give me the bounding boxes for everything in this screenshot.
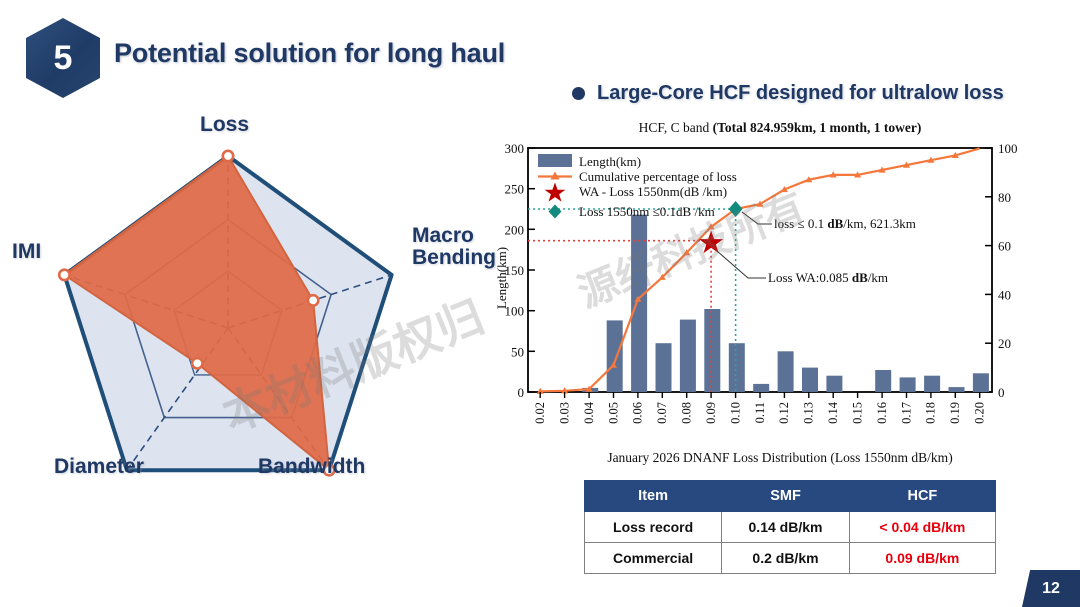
svg-text:40: 40 [998, 287, 1011, 302]
radar-label-imi: IMI [12, 240, 41, 264]
radar-chart: Loss IMI Macro Bending Diameter Bandwidt… [0, 100, 500, 500]
wa-annotation-text: Loss WA:0.085 dB/km [768, 270, 888, 285]
svg-text:0.19: 0.19 [948, 402, 962, 424]
radar-svg [0, 100, 500, 500]
comparison-table: Item SMF HCF Loss record 0.14 dB/km < 0.… [584, 480, 996, 574]
svg-text:60: 60 [998, 239, 1011, 254]
legend-label-0: Length(km) [579, 154, 641, 169]
table-header-smf: SMF [722, 481, 850, 512]
x-axis-title: January 2026 DNANF Loss Distribution (Lo… [480, 450, 1080, 466]
svg-text:0.05: 0.05 [606, 402, 620, 424]
table-row: Loss record 0.14 dB/km < 0.04 dB/km [585, 512, 996, 543]
table-header-row: Item SMF HCF [585, 481, 996, 512]
svg-text:0.04: 0.04 [582, 401, 596, 424]
svg-text:0.06: 0.06 [631, 402, 645, 424]
legend-label-1: Cumulative percentage of loss [579, 169, 737, 184]
table-row: Commercial 0.2 dB/km 0.09 dB/km [585, 543, 996, 574]
cell-hcf-loss-record: < 0.04 dB/km [849, 512, 995, 543]
svg-text:0.20: 0.20 [973, 402, 987, 424]
svg-text:0.03: 0.03 [557, 402, 571, 424]
svg-text:250: 250 [505, 182, 525, 197]
radar-label-loss: Loss [200, 113, 249, 137]
svg-text:0.15: 0.15 [850, 402, 864, 424]
svg-text:0.02: 0.02 [533, 402, 547, 424]
slide-root: 5 Potential solution for long haul Large… [0, 0, 1080, 607]
page-number-badge: 12 [1022, 570, 1080, 607]
svg-text:0.18: 0.18 [924, 402, 938, 424]
cell-item-commercial: Commercial [585, 543, 722, 574]
cell-smf-commercial: 0.2 dB/km [722, 543, 850, 574]
threshold-annotation-text: loss ≤ 0.1 dB/km, 621.3km [774, 216, 916, 231]
table-header-item: Item [585, 481, 722, 512]
svg-text:0.14: 0.14 [826, 401, 840, 424]
section-heading: Large-Core HCF designed for ultralow los… [572, 82, 1004, 105]
svg-text:0.12: 0.12 [777, 402, 791, 424]
svg-text:80: 80 [998, 190, 1011, 205]
page-title: Potential solution for long haul [114, 38, 505, 69]
svg-text:0.13: 0.13 [802, 402, 816, 424]
bullet-dot-icon [572, 87, 585, 100]
svg-text:0.08: 0.08 [680, 402, 694, 424]
svg-text:0.09: 0.09 [704, 402, 718, 424]
svg-text:0.11: 0.11 [753, 402, 767, 423]
svg-text:100: 100 [998, 141, 1018, 156]
y-axis-title: Length(km) [494, 218, 510, 338]
loss-distribution-chart: HCF, C band (Total 824.959km, 1 month, 1… [480, 120, 1080, 480]
legend-label-2: WA - Loss 1550nm(dB /km) [579, 184, 727, 199]
svg-text:0.16: 0.16 [875, 402, 889, 424]
svg-text:20: 20 [998, 336, 1011, 351]
chart-svg: 300 250 200 150 100 50 0 10 [480, 120, 1080, 450]
svg-text:300: 300 [505, 141, 525, 156]
cell-hcf-commercial: 0.09 dB/km [849, 543, 995, 574]
svg-text:0.10: 0.10 [728, 402, 742, 424]
svg-text:0.07: 0.07 [655, 402, 669, 424]
svg-text:0: 0 [518, 385, 525, 400]
legend-label-3: Loss 1550nm ≤0.1dB /km [579, 204, 715, 219]
cell-smf-loss-record: 0.14 dB/km [722, 512, 850, 543]
section-heading-label: Large-Core HCF designed for ultralow los… [597, 82, 1004, 105]
step-number-badge: 5 [26, 18, 100, 98]
svg-text:0: 0 [998, 385, 1005, 400]
cell-item-loss-record: Loss record [585, 512, 722, 543]
legend-bar-swatch-icon [538, 154, 572, 167]
svg-text:0.17: 0.17 [899, 402, 913, 424]
radar-label-diameter: Diameter [54, 455, 144, 479]
radar-label-bandwidth: Bandwidth [258, 455, 365, 479]
svg-text:50: 50 [511, 344, 524, 359]
table-header-hcf: HCF [849, 481, 995, 512]
x-axis-tick-labels: 0.02 0.03 0.04 0.05 0.06 0.07 0.08 0.09 … [533, 401, 987, 424]
